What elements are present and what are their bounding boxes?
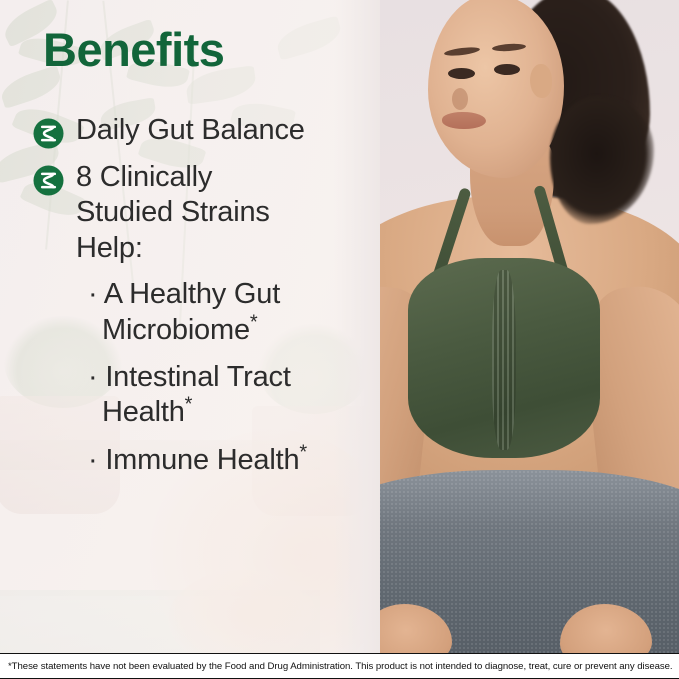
benefit-item-2-line3: Help: <box>76 232 143 264</box>
sub-item-2-bullet: · <box>88 361 97 393</box>
photo-ear <box>530 64 552 98</box>
benefits-sub-list: · A Healthy Gut Microbiome* · Intestinal… <box>33 277 373 478</box>
photo-lips <box>442 112 486 129</box>
gut-icon <box>33 118 64 149</box>
photo-nose <box>452 88 468 110</box>
gut-icon <box>33 165 64 196</box>
benefits-content: Benefits Daily Gut Balance <box>0 0 380 679</box>
benefits-list: Daily Gut Balance 8 Clinically Studied S… <box>33 113 373 490</box>
sub-item-2-line1: Intestinal Tract <box>105 361 290 393</box>
photo-ponytail <box>550 96 654 224</box>
photo-eye-right <box>494 64 520 75</box>
benefit-item-2-line2: Studied Strains <box>76 196 270 228</box>
sub-item-3-line1: Immune Health <box>105 444 299 476</box>
benefit-item-1: Daily Gut Balance <box>33 113 373 149</box>
sub-item-2-line2: Health <box>116 395 185 430</box>
lifestyle-model-photo <box>352 0 679 679</box>
sub-item-2: · Intestinal Tract Health* <box>88 360 373 431</box>
photo-eye-left <box>448 68 475 79</box>
benefit-item-1-label: Daily Gut Balance <box>76 113 305 148</box>
fda-disclaimer-bar: *These statements have not been evaluate… <box>0 653 679 679</box>
page-title: Benefits <box>43 26 224 73</box>
sub-item-3: · Immune Health* <box>88 443 373 478</box>
product-infographic: Benefits Daily Gut Balance <box>0 0 679 679</box>
benefit-item-2-line1: 8 Clinically <box>76 161 212 193</box>
sub-item-1-line2: Microbiome <box>116 313 250 348</box>
benefit-item-2-label: 8 Clinically Studied Strains Help: <box>76 160 270 266</box>
photo-crop-top <box>408 258 600 458</box>
sub-item-3-bullet: · <box>88 444 97 476</box>
sub-item-2-asterisk: * <box>185 394 193 416</box>
fda-disclaimer-text: *These statements have not been evaluate… <box>0 661 673 672</box>
sub-item-1: · A Healthy Gut Microbiome* <box>88 277 373 348</box>
sub-item-1-bullet: · <box>88 278 97 310</box>
sub-item-3-asterisk: * <box>299 441 307 463</box>
sub-item-1-line1: A Healthy Gut <box>104 278 280 310</box>
sub-item-1-asterisk: * <box>250 311 258 333</box>
benefit-item-2: 8 Clinically Studied Strains Help: <box>33 160 373 266</box>
